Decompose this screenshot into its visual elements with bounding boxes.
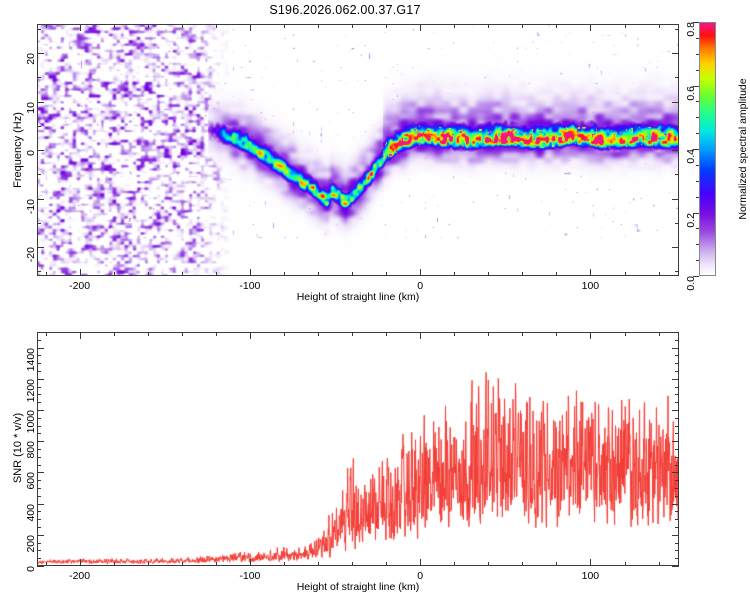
tick-y-right bbox=[672, 566, 679, 567]
tick-y bbox=[37, 543, 41, 544]
tick-x-top bbox=[590, 24, 591, 31]
tick-y bbox=[37, 271, 41, 272]
tick-y bbox=[37, 558, 41, 559]
tick-y bbox=[37, 441, 44, 442]
x-tick-label: 100 bbox=[582, 280, 600, 292]
y-tick-label: 1000 bbox=[25, 410, 37, 433]
tick-x bbox=[148, 562, 149, 566]
tick-x bbox=[46, 562, 47, 566]
tick-x-top bbox=[386, 332, 387, 336]
tick-y-right bbox=[672, 348, 679, 349]
tick-x bbox=[556, 562, 557, 566]
tick-x-top bbox=[80, 24, 81, 31]
tick-y-right bbox=[672, 53, 679, 54]
tick-x bbox=[420, 269, 421, 276]
y-tick-label: 1200 bbox=[25, 379, 37, 402]
tick-y bbox=[37, 371, 41, 372]
tick-y bbox=[37, 457, 41, 458]
tick-y-right bbox=[675, 426, 679, 427]
tick-y-right bbox=[672, 504, 679, 505]
tick-y-right bbox=[675, 223, 679, 224]
tick-y-right bbox=[675, 433, 679, 434]
colorbar-tick bbox=[696, 70, 699, 71]
tick-x-top bbox=[284, 332, 285, 336]
snr-plot-area bbox=[37, 332, 679, 566]
tick-x-top bbox=[625, 24, 626, 28]
tick-x bbox=[182, 272, 183, 276]
tick-y bbox=[37, 465, 41, 466]
tick-y-right bbox=[675, 558, 679, 559]
tick-x bbox=[216, 272, 217, 276]
tick-y-right bbox=[675, 394, 679, 395]
tick-x-top bbox=[556, 332, 557, 336]
y-tick-label: 10 bbox=[25, 102, 37, 114]
tick-y bbox=[37, 247, 44, 248]
tick-x bbox=[318, 272, 319, 276]
tick-x bbox=[590, 559, 591, 566]
tick-y-right bbox=[675, 496, 679, 497]
spectrogram-x-axis-title: Height of straight line (km) bbox=[297, 291, 420, 303]
tick-x bbox=[488, 562, 489, 566]
x-tick-label: -200 bbox=[69, 280, 90, 292]
tick-y bbox=[37, 426, 41, 427]
tick-y-right bbox=[675, 488, 679, 489]
tick-y bbox=[37, 126, 41, 127]
tick-x bbox=[318, 562, 319, 566]
tick-y bbox=[37, 402, 41, 403]
tick-y-right bbox=[675, 402, 679, 403]
colorbar-tick bbox=[696, 117, 699, 118]
colorbar-title: Normalized spectral amplitude bbox=[737, 78, 749, 219]
tick-x-top bbox=[216, 24, 217, 28]
tick-x bbox=[625, 272, 626, 276]
tick-y bbox=[37, 480, 41, 481]
tick-y-right bbox=[672, 199, 679, 200]
x-tick-label: 100 bbox=[582, 570, 600, 582]
tick-x bbox=[352, 562, 353, 566]
tick-y bbox=[37, 340, 41, 341]
tick-y-right bbox=[675, 387, 679, 388]
snr-y-axis-title: SNR (10 * v/v) bbox=[12, 413, 24, 483]
y-tick-label: 600 bbox=[25, 472, 37, 490]
tick-x bbox=[148, 272, 149, 276]
tick-x-top bbox=[522, 332, 523, 336]
tick-x-top bbox=[284, 24, 285, 28]
snr-line-series bbox=[38, 333, 678, 565]
tick-y bbox=[37, 511, 41, 512]
tick-y-right bbox=[675, 550, 679, 551]
tick-y bbox=[37, 223, 41, 224]
tick-y bbox=[37, 29, 41, 30]
colorbar-tick bbox=[696, 260, 699, 261]
tick-y bbox=[37, 566, 44, 567]
tick-x bbox=[386, 562, 387, 566]
tick-x-top bbox=[216, 332, 217, 336]
colorbar-tick-label: 0.2 bbox=[685, 213, 697, 228]
tick-x bbox=[625, 562, 626, 566]
tick-x bbox=[522, 562, 523, 566]
tick-y-right bbox=[675, 543, 679, 544]
tick-x-top bbox=[352, 24, 353, 28]
tick-x bbox=[250, 269, 251, 276]
tick-x bbox=[284, 272, 285, 276]
tick-y bbox=[37, 496, 41, 497]
colorbar-tick bbox=[696, 54, 699, 55]
tick-y bbox=[37, 102, 44, 103]
tick-x-top bbox=[250, 24, 251, 31]
spectrogram-image bbox=[38, 25, 678, 275]
tick-x bbox=[522, 272, 523, 276]
y-tick-label: 0 bbox=[25, 566, 37, 572]
colorbar-tick bbox=[696, 101, 699, 102]
y-tick-label: 0 bbox=[25, 150, 37, 156]
y-tick-label: 1400 bbox=[25, 348, 37, 371]
tick-y-right bbox=[675, 527, 679, 528]
tick-x bbox=[80, 269, 81, 276]
tick-x-top bbox=[454, 332, 455, 336]
tick-x-top bbox=[556, 24, 557, 28]
tick-x bbox=[216, 562, 217, 566]
tick-x-top bbox=[114, 332, 115, 336]
colorbar-tick bbox=[696, 181, 699, 182]
tick-y bbox=[37, 174, 41, 175]
tick-y bbox=[37, 199, 44, 200]
tick-x-top bbox=[659, 24, 660, 28]
tick-x bbox=[284, 562, 285, 566]
colorbar-tick-label: 0.0 bbox=[685, 276, 697, 291]
tick-y-right bbox=[675, 271, 679, 272]
tick-x bbox=[114, 272, 115, 276]
tick-x bbox=[420, 559, 421, 566]
tick-x bbox=[352, 272, 353, 276]
tick-x bbox=[488, 272, 489, 276]
tick-x-top bbox=[625, 332, 626, 336]
tick-x bbox=[182, 562, 183, 566]
tick-y-right bbox=[672, 410, 679, 411]
tick-x-top bbox=[182, 24, 183, 28]
tick-x-top bbox=[420, 332, 421, 339]
tick-y-right bbox=[672, 150, 679, 151]
tick-y bbox=[37, 504, 44, 505]
x-tick-label: -200 bbox=[69, 570, 90, 582]
tick-x-top bbox=[46, 24, 47, 28]
tick-y bbox=[37, 535, 44, 536]
tick-x-top bbox=[488, 24, 489, 28]
tick-x-top bbox=[659, 332, 660, 336]
colorbar-tick bbox=[696, 197, 699, 198]
tick-y-right bbox=[675, 77, 679, 78]
tick-y-right bbox=[675, 519, 679, 520]
tick-y bbox=[37, 348, 44, 349]
tick-x-top bbox=[488, 332, 489, 336]
tick-y-right bbox=[675, 511, 679, 512]
tick-x-top bbox=[250, 332, 251, 339]
spectrogram-y-axis-title: Frequency (Hz) bbox=[12, 112, 24, 188]
tick-y bbox=[37, 150, 44, 151]
tick-x bbox=[454, 272, 455, 276]
x-tick-label: -100 bbox=[239, 570, 260, 582]
figure-root: S196.2026.062.00.37.G17 -200-1000100-20-… bbox=[0, 0, 750, 600]
tick-y-right bbox=[675, 340, 679, 341]
tick-x-top bbox=[454, 24, 455, 28]
tick-x bbox=[659, 272, 660, 276]
tick-y-right bbox=[675, 29, 679, 30]
tick-y bbox=[37, 527, 41, 528]
tick-x bbox=[659, 562, 660, 566]
tick-x bbox=[114, 562, 115, 566]
tick-y-right bbox=[675, 418, 679, 419]
tick-x bbox=[386, 272, 387, 276]
colorbar-gradient bbox=[700, 23, 715, 275]
tick-y bbox=[37, 77, 41, 78]
tick-y bbox=[37, 387, 41, 388]
tick-y bbox=[37, 363, 41, 364]
tick-y-right bbox=[672, 472, 679, 473]
tick-x-top bbox=[148, 332, 149, 336]
tick-y bbox=[37, 488, 41, 489]
tick-x-top bbox=[352, 332, 353, 336]
colorbar-tick-label: 0.8 bbox=[685, 22, 697, 37]
tick-y-right bbox=[675, 371, 679, 372]
tick-x-top bbox=[46, 332, 47, 336]
colorbar-tick bbox=[696, 244, 699, 245]
tick-x bbox=[454, 562, 455, 566]
colorbar bbox=[699, 22, 716, 276]
tick-y-right bbox=[672, 247, 679, 248]
tick-x-top bbox=[318, 24, 319, 28]
tick-y-right bbox=[672, 102, 679, 103]
tick-y-right bbox=[675, 457, 679, 458]
y-tick-label: -10 bbox=[25, 199, 37, 214]
y-tick-label: 20 bbox=[25, 53, 37, 65]
tick-y bbox=[37, 519, 41, 520]
y-tick-label: 200 bbox=[25, 535, 37, 553]
tick-y-right bbox=[675, 355, 679, 356]
tick-x-top bbox=[114, 24, 115, 28]
colorbar-tick bbox=[696, 38, 699, 39]
snr-x-axis-title: Height of straight line (km) bbox=[297, 581, 420, 593]
tick-y bbox=[37, 410, 44, 411]
tick-y-right bbox=[675, 363, 679, 364]
tick-y bbox=[37, 332, 41, 333]
tick-x-top bbox=[420, 24, 421, 31]
tick-x bbox=[590, 269, 591, 276]
tick-y-right bbox=[672, 535, 679, 536]
tick-y bbox=[37, 472, 44, 473]
tick-y bbox=[37, 394, 41, 395]
tick-y bbox=[37, 433, 41, 434]
tick-y bbox=[37, 418, 41, 419]
colorbar-tick bbox=[696, 133, 699, 134]
page-title: S196.2026.062.00.37.G17 bbox=[0, 3, 690, 17]
tick-y bbox=[37, 449, 41, 450]
colorbar-tick-label: 0.4 bbox=[685, 149, 697, 164]
tick-y bbox=[37, 550, 41, 551]
tick-x-top bbox=[80, 332, 81, 339]
tick-x-top bbox=[386, 24, 387, 28]
tick-y-right bbox=[672, 379, 679, 380]
x-tick-label: -100 bbox=[239, 280, 260, 292]
tick-y-right bbox=[675, 465, 679, 466]
tick-x-top bbox=[522, 24, 523, 28]
colorbar-tick bbox=[696, 228, 699, 229]
tick-y-right bbox=[675, 449, 679, 450]
y-tick-label: 800 bbox=[25, 441, 37, 459]
tick-y-right bbox=[675, 174, 679, 175]
tick-y-right bbox=[675, 480, 679, 481]
tick-x bbox=[250, 559, 251, 566]
tick-x-top bbox=[182, 332, 183, 336]
tick-y-right bbox=[675, 332, 679, 333]
colorbar-tick bbox=[696, 165, 699, 166]
tick-x-top bbox=[148, 24, 149, 28]
tick-y-right bbox=[672, 441, 679, 442]
tick-x bbox=[80, 559, 81, 566]
tick-x bbox=[556, 272, 557, 276]
tick-x-top bbox=[318, 332, 319, 336]
tick-y bbox=[37, 355, 41, 356]
tick-y-right bbox=[675, 126, 679, 127]
tick-x-top bbox=[590, 332, 591, 339]
tick-y bbox=[37, 379, 44, 380]
y-tick-label: -20 bbox=[25, 247, 37, 262]
tick-y bbox=[37, 53, 44, 54]
tick-x bbox=[46, 272, 47, 276]
colorbar-tick-label: 0.6 bbox=[685, 86, 697, 101]
y-tick-label: 400 bbox=[25, 504, 37, 522]
spectrogram-plot-area bbox=[37, 24, 679, 276]
